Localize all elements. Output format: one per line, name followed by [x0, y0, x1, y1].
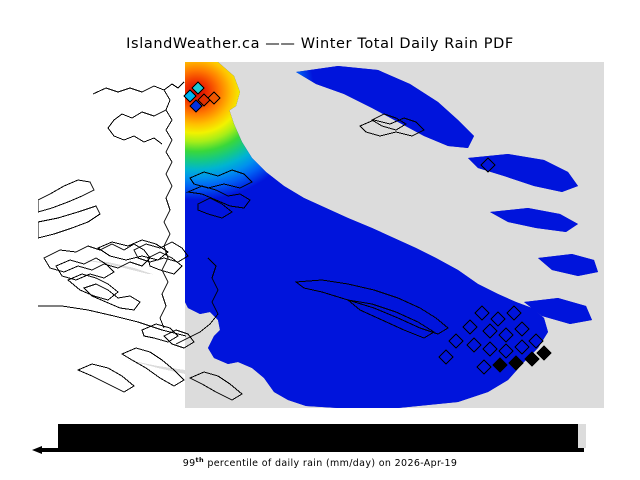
caption-percentile-number: 99: [183, 458, 196, 469]
colorbar-tail: [578, 424, 586, 448]
map-panel[interactable]: [38, 62, 604, 408]
colorbar-gradient[interactable]: [58, 424, 578, 448]
colorbar-caption: 99th percentile of daily rain (mm/day) o…: [0, 458, 640, 469]
page-title: IslandWeather.ca —— Winter Total Daily R…: [0, 36, 640, 52]
outside-domain-region: [38, 62, 185, 408]
caption-percentile-suffix: th: [196, 456, 204, 464]
colorbar-underline: [38, 448, 584, 452]
colorbar[interactable]: [38, 420, 604, 454]
weather-map-raster[interactable]: [38, 62, 604, 408]
caption-text: percentile of daily rain (mm/day) on 202…: [204, 458, 457, 469]
